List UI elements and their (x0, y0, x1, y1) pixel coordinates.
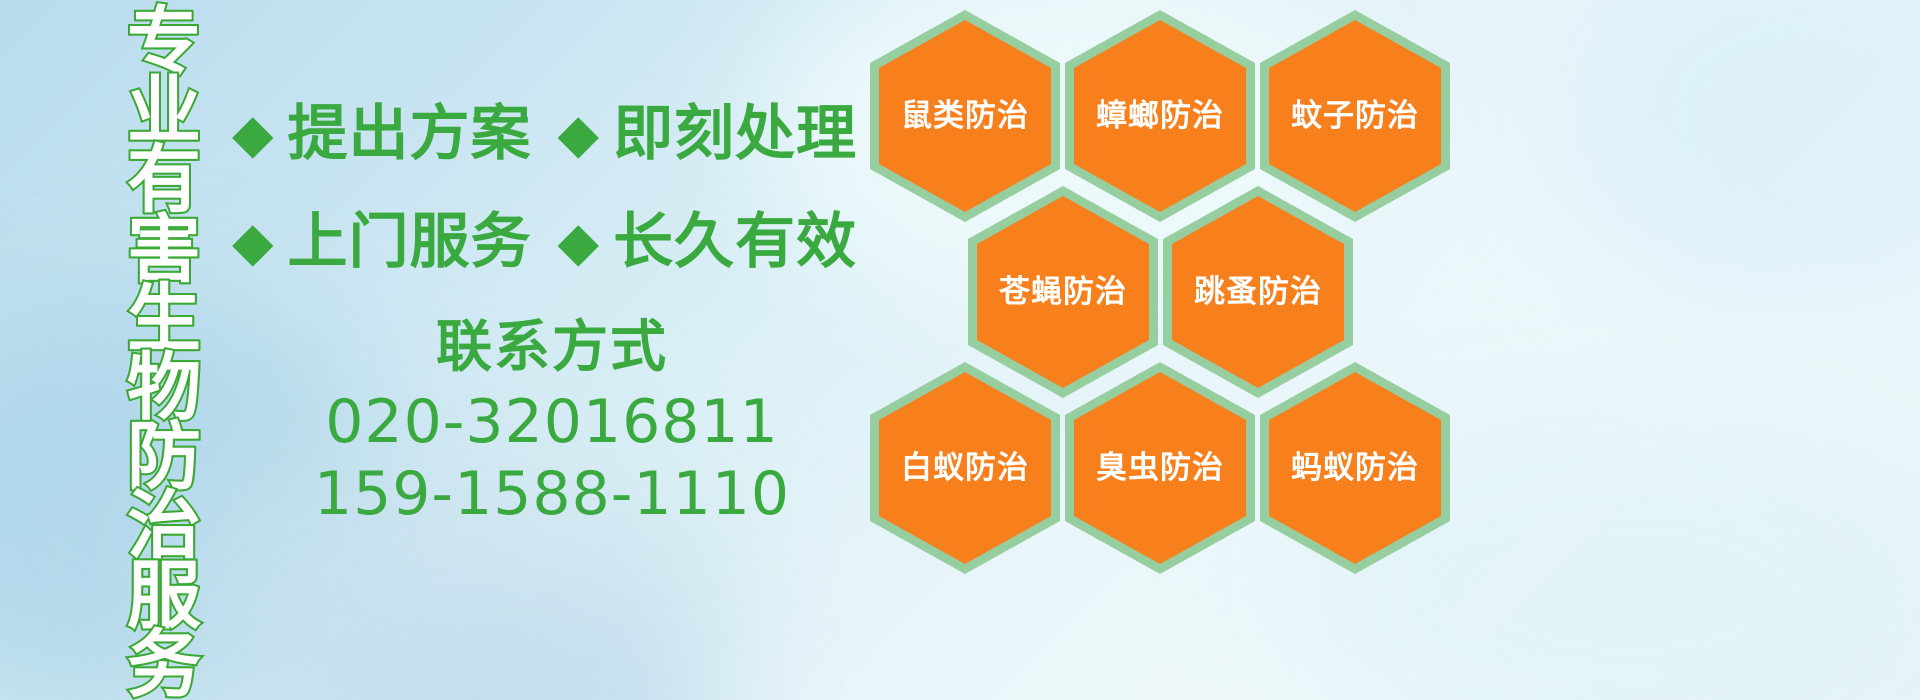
diamond-bullet-icon: ◆ (558, 107, 600, 161)
hex-inner: 苍蝇防治 (977, 196, 1149, 388)
service-hex-cockroach[interactable]: 蟑螂防治 (1065, 10, 1255, 222)
phone-number-mobile[interactable]: 159-1588-1110 (232, 458, 872, 530)
service-hex-bedbug[interactable]: 臭虫防治 (1065, 362, 1255, 574)
service-label: 臭虫防治 (1096, 453, 1224, 484)
vertical-headline-char: 治 (127, 492, 201, 561)
hex-inner: 白蚁防治 (879, 372, 1051, 564)
vertical-headline-char: 害 (127, 216, 201, 285)
diamond-bullet-icon: ◆ (232, 215, 274, 269)
service-hex-ant[interactable]: 蚂蚁防治 (1260, 362, 1450, 574)
service-hex-rodent[interactable]: 鼠类防治 (870, 10, 1060, 222)
feature-label: 即刻处理 (613, 104, 857, 164)
hex-inner: 臭虫防治 (1074, 372, 1246, 564)
service-hex-fly[interactable]: 苍蝇防治 (968, 186, 1158, 398)
hex-inner: 蟑螂防治 (1074, 20, 1246, 212)
vertical-headline: 专 业 有 害 生 物 防 治 服 务 (108, 8, 220, 698)
service-hex-termite[interactable]: 白蚁防治 (870, 362, 1060, 574)
vertical-headline-char: 有 (127, 146, 201, 215)
background-blur-blob (1560, 0, 1920, 320)
service-hex-flea[interactable]: 跳蚤防治 (1163, 186, 1353, 398)
vertical-headline-char: 物 (127, 354, 201, 423)
diamond-bullet-icon: ◆ (232, 107, 274, 161)
pest-control-banner: 专 业 有 害 生 物 防 治 服 务 ◆ 提出方案 ◆ 即刻处理 ◆ 上门服务… (0, 0, 1920, 700)
vertical-headline-char: 务 (127, 631, 201, 700)
hex-inner: 蚊子防治 (1269, 20, 1441, 212)
vertical-headline-char: 服 (127, 562, 201, 631)
hex-inner: 鼠类防治 (879, 20, 1051, 212)
vertical-headline-char: 专 (127, 8, 201, 77)
service-label: 蚂蚁防治 (1291, 453, 1419, 484)
vertical-headline-char: 生 (127, 285, 201, 354)
service-label: 蟑螂防治 (1096, 101, 1224, 132)
diamond-bullet-icon: ◆ (558, 215, 600, 269)
contact-block: 联系方式 020-32016811 159-1588-1110 (232, 316, 872, 530)
service-label: 白蚁防治 (901, 453, 1029, 484)
background-blur-blob (300, 600, 720, 700)
feature-label: 提出方案 (288, 104, 532, 164)
feature-row: ◆ 提出方案 ◆ 即刻处理 (232, 80, 872, 188)
feature-label: 长久有效 (613, 212, 857, 272)
feature-list: ◆ 提出方案 ◆ 即刻处理 ◆ 上门服务 ◆ 长久有效 (232, 80, 872, 296)
feature-label: 上门服务 (288, 212, 532, 272)
service-label: 跳蚤防治 (1194, 277, 1322, 308)
service-hex-mosquito[interactable]: 蚊子防治 (1260, 10, 1450, 222)
service-label: 苍蝇防治 (999, 277, 1127, 308)
hex-inner: 跳蚤防治 (1172, 196, 1344, 388)
feature-row: ◆ 上门服务 ◆ 长久有效 (232, 188, 872, 296)
phone-number-landline[interactable]: 020-32016811 (232, 386, 872, 458)
hex-inner: 蚂蚁防治 (1269, 372, 1441, 564)
contact-heading: 联系方式 (232, 316, 872, 380)
vertical-headline-char: 业 (127, 77, 201, 146)
service-label: 蚊子防治 (1291, 101, 1419, 132)
service-label: 鼠类防治 (901, 101, 1029, 132)
service-honeycomb: 鼠类防治 蟑螂防治 蚊子防治 苍蝇防治 跳蚤防治 白蚁防治 (860, 0, 1460, 570)
vertical-headline-char: 防 (127, 423, 201, 492)
